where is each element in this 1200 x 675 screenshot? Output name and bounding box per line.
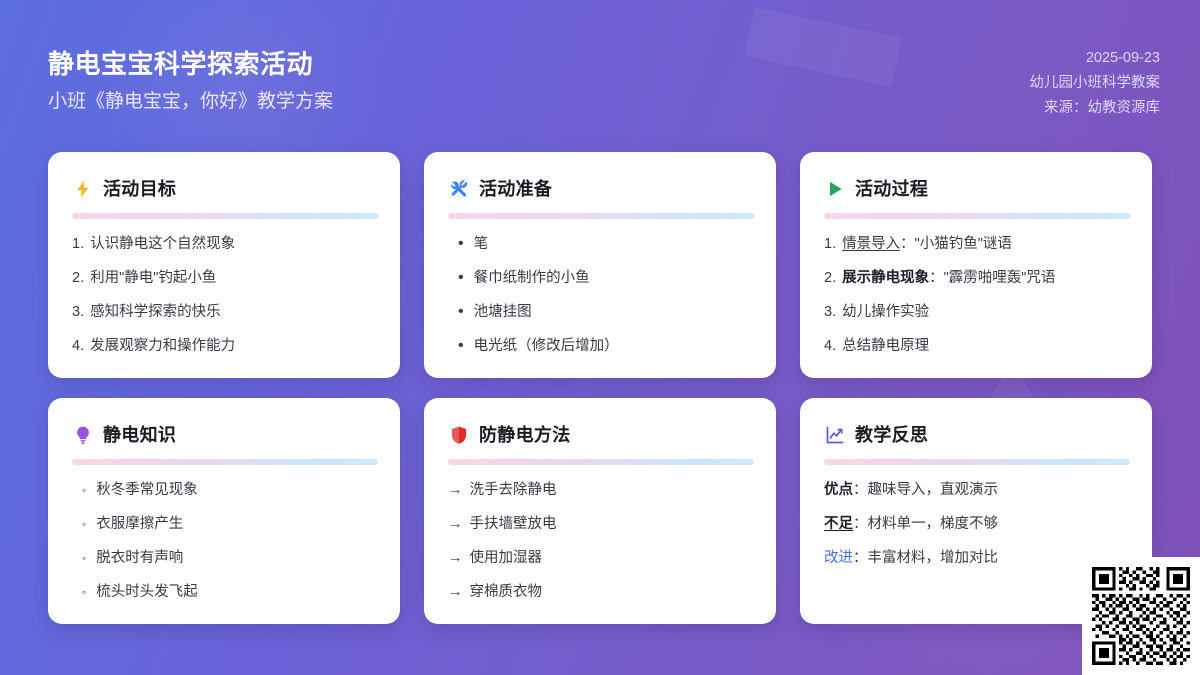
- list-item-marker: •: [458, 268, 464, 289]
- list-item: →洗手去除静电: [448, 480, 754, 501]
- list-item: ◦衣服摩擦产生: [72, 514, 378, 535]
- list-item-text: 幼儿操作实验: [842, 302, 1130, 323]
- list-item-text: 情景导入："小猫钓鱼"谜语: [842, 234, 1130, 255]
- card-header: 静电知识: [72, 424, 378, 446]
- list-item-text: 优点：趣味导入，直观演示: [824, 480, 1130, 501]
- cards-grid: 活动目标1.认识静电这个自然现象2.利用"静电"钓起小鱼3.感知科学探索的快乐4…: [48, 152, 1152, 624]
- card-header: 教学反思: [824, 424, 1130, 446]
- chart-icon: [824, 424, 846, 446]
- list-item-text: 衣服摩擦产生: [96, 514, 378, 535]
- list-item-text: 池塘挂图: [474, 302, 754, 323]
- header-source: 来源：幼教资源库: [1030, 96, 1161, 121]
- card-divider: [72, 459, 378, 465]
- header-category: 幼儿园小班科学教案: [1030, 71, 1161, 96]
- list-item-body: ：材料单一，梯度不够: [853, 516, 998, 532]
- list-item-text: 笔: [474, 234, 754, 255]
- list-item-marker: ◦: [82, 514, 86, 534]
- list-item-text: 餐巾纸制作的小鱼: [474, 268, 754, 289]
- list-item: 4.总结静电原理: [824, 336, 1130, 357]
- qr-code: [1092, 567, 1190, 665]
- card-header: 活动目标: [72, 178, 378, 200]
- page-title: 静电宝宝科学探索活动: [48, 48, 333, 81]
- card-item-list: ◦秋冬季常见现象◦衣服摩擦产生◦脱衣时有声响◦梳头时头发飞起: [72, 480, 378, 603]
- list-item-lead: 不足: [824, 516, 853, 532]
- card-activity-preparation: 活动准备•笔•餐巾纸制作的小鱼•池塘挂图•电光纸（修改后增加）: [424, 152, 776, 378]
- list-item-body: ：趣味导入，直观演示: [853, 482, 998, 498]
- list-item-marker: •: [458, 234, 464, 255]
- list-item-marker: 3.: [824, 302, 836, 323]
- list-item-marker: 2.: [824, 268, 836, 289]
- card-title: 教学反思: [855, 426, 928, 444]
- list-item: ◦脱衣时有声响: [72, 548, 378, 569]
- bolt-icon: [72, 178, 94, 200]
- list-item-lead: 优点: [824, 482, 853, 498]
- header-date: 2025-09-23: [1030, 46, 1161, 71]
- card-title: 活动目标: [103, 180, 176, 198]
- card-divider: [824, 459, 1130, 465]
- list-item-marker: 4.: [824, 336, 836, 357]
- shield-icon: [448, 424, 470, 446]
- list-item-marker: •: [458, 302, 464, 323]
- list-item: →穿棉质衣物: [448, 582, 754, 603]
- card-header: 活动过程: [824, 178, 1130, 200]
- list-item: 1.情景导入："小猫钓鱼"谜语: [824, 234, 1130, 255]
- list-item-body: ："霹雳啪哩轰"咒语: [929, 270, 1055, 286]
- list-item: ◦秋冬季常见现象: [72, 480, 378, 501]
- list-item-text: 秋冬季常见现象: [96, 480, 378, 501]
- card-title: 静电知识: [103, 426, 176, 444]
- bulb-icon: [72, 424, 94, 446]
- list-item: 1.认识静电这个自然现象: [72, 234, 378, 255]
- list-item-text: 穿棉质衣物: [470, 582, 755, 603]
- list-item: 3.幼儿操作实验: [824, 302, 1130, 323]
- list-item-text: 使用加湿器: [470, 548, 755, 569]
- list-item: •电光纸（修改后增加）: [448, 336, 754, 357]
- list-item: 4.发展观察力和操作能力: [72, 336, 378, 357]
- list-item-lead: 展示静电现象: [842, 270, 929, 286]
- card-title: 活动准备: [479, 180, 552, 198]
- list-item-text: 电光纸（修改后增加）: [474, 336, 754, 357]
- card-activity-process: 活动过程1.情景导入："小猫钓鱼"谜语2.展示静电现象："霹雳啪哩轰"咒语3.幼…: [800, 152, 1152, 378]
- list-item: •餐巾纸制作的小鱼: [448, 268, 754, 289]
- list-item-marker: →: [448, 480, 463, 501]
- qr-code-container[interactable]: [1082, 557, 1200, 675]
- list-item-lead: 改进: [824, 550, 853, 566]
- list-item-marker: 1.: [824, 234, 836, 255]
- list-item-text: 认识静电这个自然现象: [90, 234, 378, 255]
- card-title: 活动过程: [855, 180, 928, 198]
- list-item-text: 脱衣时有声响: [96, 548, 378, 569]
- card-item-list: →洗手去除静电→手扶墙壁放电→使用加湿器→穿棉质衣物: [448, 480, 754, 603]
- list-item-marker: 1.: [72, 234, 84, 255]
- list-item-marker: ◦: [82, 480, 86, 500]
- list-item-marker: 4.: [72, 336, 84, 357]
- list-item-body: ："小猫钓鱼"谜语: [900, 236, 1012, 252]
- card-divider: [448, 213, 754, 219]
- list-item-marker: →: [448, 514, 463, 535]
- play-icon: [824, 178, 846, 200]
- list-item-text: 发展观察力和操作能力: [90, 336, 378, 357]
- tools-icon: [448, 178, 470, 200]
- card-divider: [824, 213, 1130, 219]
- card-title: 防静电方法: [479, 426, 571, 444]
- header-title-block: 静电宝宝科学探索活动 小班《静电宝宝，你好》教学方案: [48, 48, 333, 114]
- list-item: ◦梳头时头发飞起: [72, 582, 378, 603]
- list-item: 2.利用"静电"钓起小鱼: [72, 268, 378, 289]
- card-divider: [72, 213, 378, 219]
- card-item-list: 1.情景导入："小猫钓鱼"谜语2.展示静电现象："霹雳啪哩轰"咒语3.幼儿操作实…: [824, 234, 1130, 357]
- card-item-list: 优点：趣味导入，直观演示不足：材料单一，梯度不够改进：丰富材料，增加对比: [824, 480, 1130, 569]
- card-item-list: •笔•餐巾纸制作的小鱼•池塘挂图•电光纸（修改后增加）: [448, 234, 754, 357]
- list-item-text: 展示静电现象："霹雳啪哩轰"咒语: [842, 268, 1130, 289]
- list-item-body: ：丰富材料，增加对比: [853, 550, 998, 566]
- list-item: →使用加湿器: [448, 548, 754, 569]
- list-item-marker: 2.: [72, 268, 84, 289]
- list-item-marker: •: [458, 336, 464, 357]
- list-item-text: 总结静电原理: [842, 336, 1130, 357]
- list-item: 3.感知科学探索的快乐: [72, 302, 378, 323]
- page-header: 静电宝宝科学探索活动 小班《静电宝宝，你好》教学方案 2025-09-23 幼儿…: [0, 0, 1200, 150]
- list-item-text: 感知科学探索的快乐: [90, 302, 378, 323]
- list-item-marker: →: [448, 582, 463, 603]
- list-item: •笔: [448, 234, 754, 255]
- card-activity-goals: 活动目标1.认识静电这个自然现象2.利用"静电"钓起小鱼3.感知科学探索的快乐4…: [48, 152, 400, 378]
- page-subtitle: 小班《静电宝宝，你好》教学方案: [48, 90, 333, 115]
- list-item: 不足：材料单一，梯度不够: [824, 514, 1130, 535]
- list-item: 优点：趣味导入，直观演示: [824, 480, 1130, 501]
- list-item-marker: →: [448, 548, 463, 569]
- header-meta-block: 2025-09-23 幼儿园小班科学教案 来源：幼教资源库: [1030, 46, 1161, 121]
- card-static-knowledge: 静电知识◦秋冬季常见现象◦衣服摩擦产生◦脱衣时有声响◦梳头时头发飞起: [48, 398, 400, 624]
- card-divider: [448, 459, 754, 465]
- list-item-lead: 情景导入: [842, 236, 900, 252]
- list-item-text: 梳头时头发飞起: [96, 582, 378, 603]
- card-header: 防静电方法: [448, 424, 754, 446]
- card-item-list: 1.认识静电这个自然现象2.利用"静电"钓起小鱼3.感知科学探索的快乐4.发展观…: [72, 234, 378, 357]
- list-item: 2.展示静电现象："霹雳啪哩轰"咒语: [824, 268, 1130, 289]
- list-item-marker: ◦: [82, 548, 86, 568]
- list-item-marker: ◦: [82, 582, 86, 602]
- list-item: →手扶墙壁放电: [448, 514, 754, 535]
- card-antistatic-methods: 防静电方法→洗手去除静电→手扶墙壁放电→使用加湿器→穿棉质衣物: [424, 398, 776, 624]
- list-item-text: 利用"静电"钓起小鱼: [90, 268, 378, 289]
- list-item-marker: 3.: [72, 302, 84, 323]
- list-item-text: 洗手去除静电: [470, 480, 755, 501]
- list-item-text: 手扶墙壁放电: [470, 514, 755, 535]
- card-header: 活动准备: [448, 178, 754, 200]
- list-item: •池塘挂图: [448, 302, 754, 323]
- list-item-text: 不足：材料单一，梯度不够: [824, 514, 1130, 535]
